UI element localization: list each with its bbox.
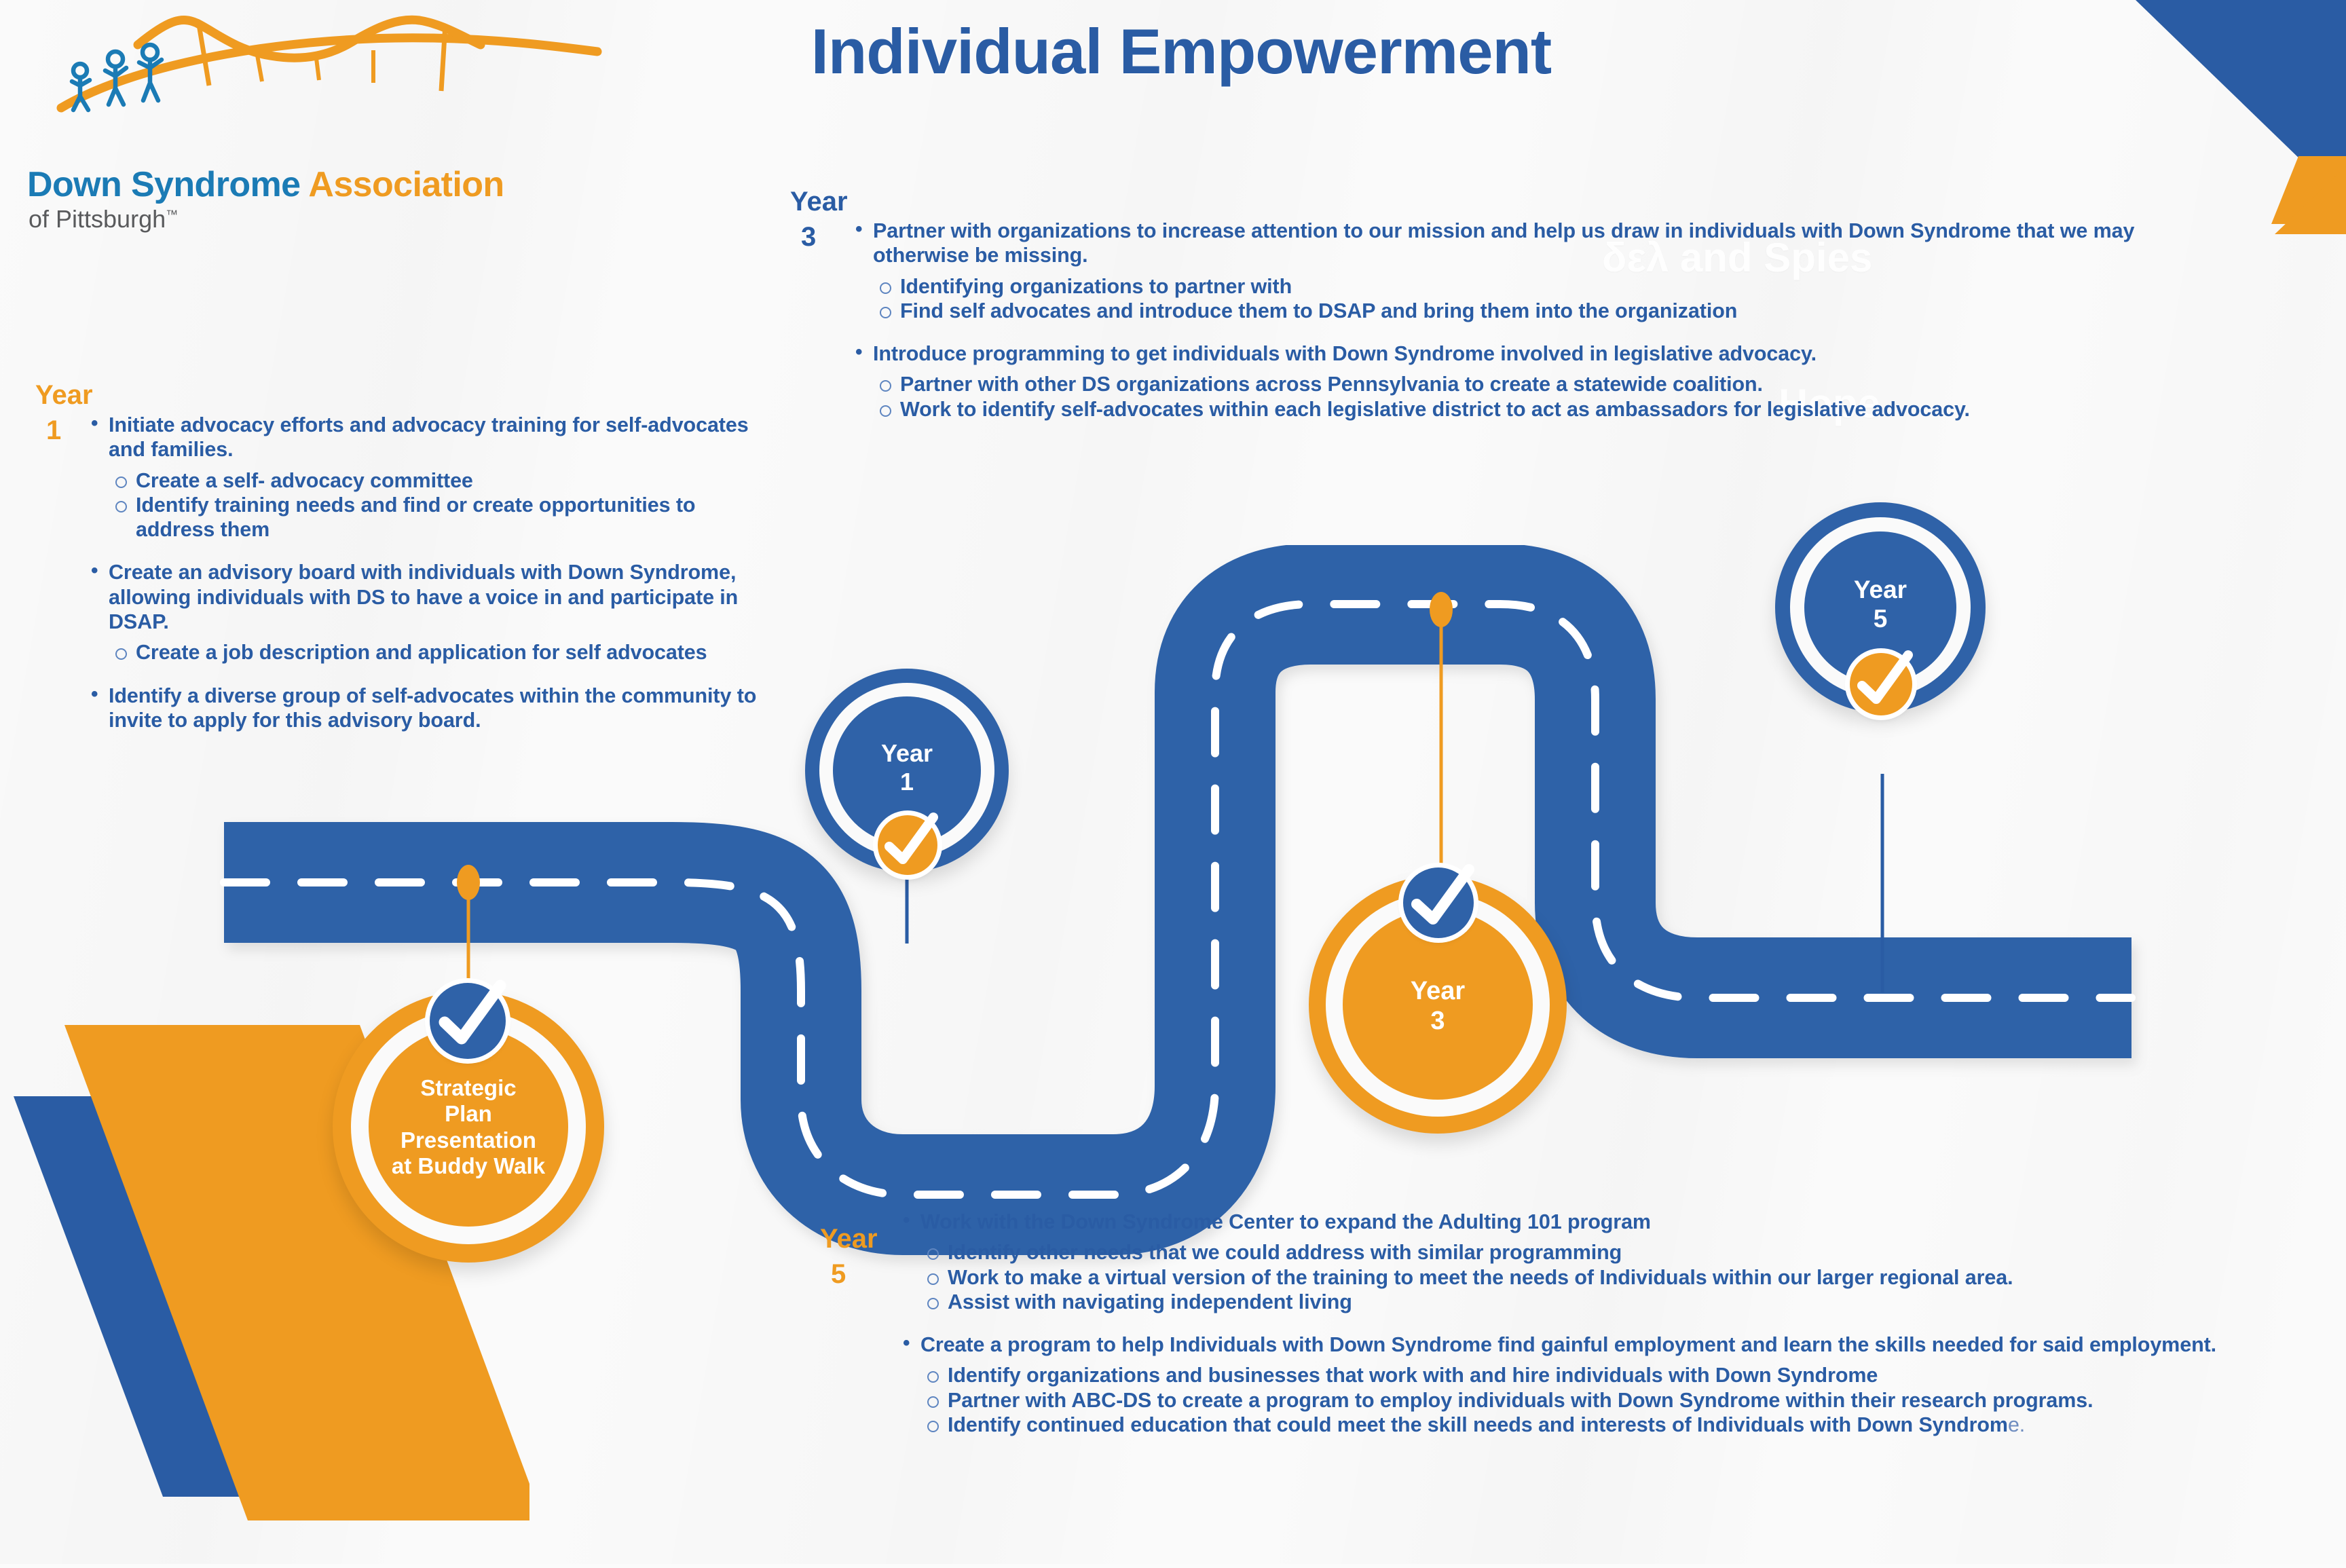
bullet-item: Partner with organizations to increase a… bbox=[850, 219, 2194, 268]
bullet-spacer bbox=[86, 665, 764, 684]
bridge-logo-icon bbox=[12, 10, 610, 166]
bullet-item: Identify continued education that could … bbox=[897, 1413, 2269, 1437]
year-5-label: Year 5 bbox=[820, 1225, 878, 1288]
bullet-item: Initiate advocacy efforts and advocacy t… bbox=[86, 413, 764, 462]
bullet-item: Create a job description and application… bbox=[86, 640, 764, 665]
bullet-item: Assist with navigating independent livin… bbox=[897, 1290, 2269, 1314]
logo-wordmark-bold: Down Syndrome bbox=[27, 165, 308, 204]
check-badge-icon bbox=[1850, 653, 1912, 715]
bullet-item: Identify a diverse group of self-advocat… bbox=[86, 684, 764, 733]
dsap-logo: Down Syndrome Association of Pittsburgh™ bbox=[12, 10, 610, 234]
year-3-bullets: Partner with organizations to increase a… bbox=[850, 219, 2194, 422]
bullet-item: Identify other needs that we could addre… bbox=[897, 1240, 2269, 1265]
milestone-year-3[interactable]: Year 3 bbox=[1309, 876, 1567, 1134]
page-title: Individual Empowerment bbox=[652, 15, 1711, 88]
logo-subtitle: of Pittsburgh™ bbox=[29, 205, 178, 234]
milestone-label: Year 5 bbox=[1775, 576, 1986, 634]
bullet-spacer bbox=[850, 323, 2194, 341]
year-1-label: Year 1 bbox=[35, 381, 93, 444]
milestone-year-1[interactable]: Year 1 bbox=[805, 669, 1009, 872]
bullet-item: Introduce programming to get individuals… bbox=[850, 341, 2194, 366]
milestone-year-5[interactable]: Year 5 bbox=[1775, 502, 1986, 713]
connector-dot-strategic-plan bbox=[457, 865, 480, 900]
bullet-item: Work to identify self-advocates within e… bbox=[850, 397, 2194, 422]
milestone-label: Strategic Plan Presentation at Buddy Wal… bbox=[333, 1075, 604, 1179]
milestone-label: Year 1 bbox=[805, 739, 1009, 796]
bullet-item: Create an advisory board with individual… bbox=[86, 560, 764, 634]
bullet-item-tail: e. bbox=[2008, 1413, 2025, 1436]
bullet-item: Find self advocates and introduce them t… bbox=[850, 299, 2194, 323]
year-3-number: 3 bbox=[801, 223, 848, 250]
bullet-item: Partner with ABC-DS to create a program … bbox=[897, 1388, 2269, 1413]
trademark-symbol: ™ bbox=[166, 208, 178, 221]
check-badge-icon bbox=[430, 983, 506, 1059]
year-5-number: 5 bbox=[831, 1261, 878, 1288]
year-3-label: Year 3 bbox=[790, 188, 848, 250]
milestone-label: Year 3 bbox=[1309, 976, 1567, 1036]
bullet-item: Work with the Down Syndrome Center to ex… bbox=[897, 1210, 2269, 1234]
logo-wordmark: Down Syndrome Association bbox=[27, 164, 611, 205]
bullet-item: Identifying organizations to partner wit… bbox=[850, 274, 2194, 299]
bullet-item: Work to make a virtual version of the tr… bbox=[897, 1265, 2269, 1290]
bullet-item: Identify organizations and businesses th… bbox=[897, 1363, 2269, 1387]
bullet-item: Create a program to help Individuals wit… bbox=[897, 1332, 2269, 1357]
milestone-strategic-plan[interactable]: Strategic Plan Presentation at Buddy Wal… bbox=[333, 991, 604, 1263]
bullet-item: Partner with other DS organizations acro… bbox=[850, 372, 2194, 396]
year-1-bullets: Initiate advocacy efforts and advocacy t… bbox=[86, 413, 764, 739]
year-5-bullets: Work with the Down Syndrome Center to ex… bbox=[897, 1210, 2269, 1437]
bullet-item: Identify training needs and find or crea… bbox=[86, 493, 764, 542]
check-badge-icon bbox=[1403, 867, 1474, 938]
check-badge-icon bbox=[878, 815, 937, 875]
bullet-spacer bbox=[86, 542, 764, 560]
connector-dot-year-3 bbox=[1430, 592, 1453, 627]
logo-wordmark-light: Association bbox=[308, 165, 504, 204]
bullet-item: Create a self- advocacy committee bbox=[86, 468, 764, 493]
bullet-spacer bbox=[897, 1314, 2269, 1332]
